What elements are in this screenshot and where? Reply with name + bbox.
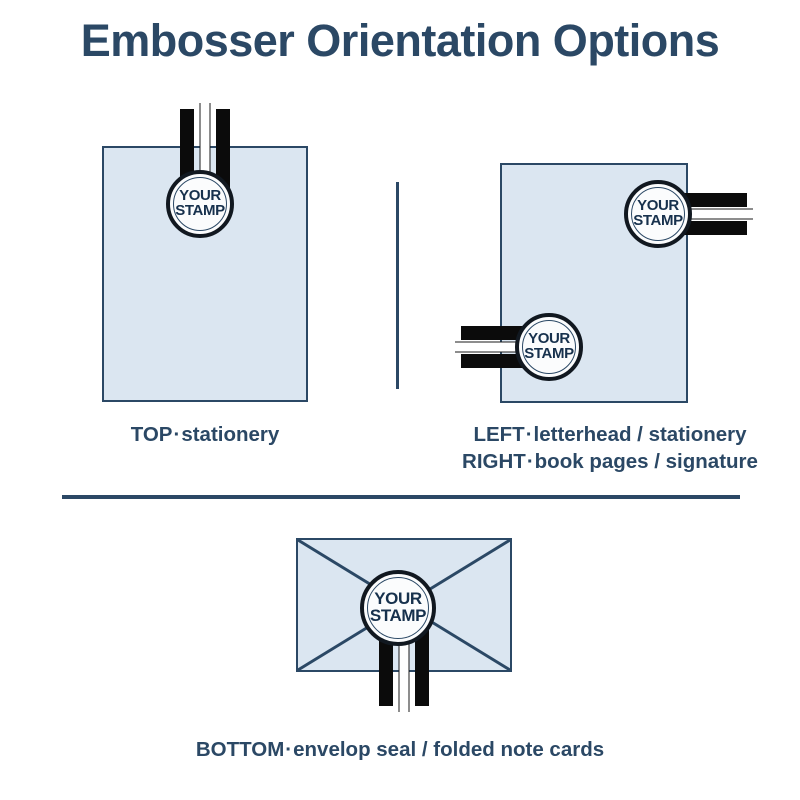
stamp-seal-bottom: YOUR STAMP (360, 570, 436, 646)
caption-bottom-line1: BOTTOM·envelop seal / folded note cards (100, 736, 700, 763)
caption-separator-dot: · (525, 423, 534, 446)
stamp-label-line2: STAMP (370, 608, 426, 625)
horizontal-divider (62, 495, 740, 499)
stamp-seal-top: YOUR STAMP (166, 170, 234, 238)
caption-left-line: LEFT·letterhead / stationery (424, 421, 796, 448)
stamp-label: YOUR STAMP (633, 199, 682, 228)
caption-separator-dot: · (284, 738, 293, 761)
stamp-seal-right: YOUR STAMP (624, 180, 692, 248)
caption-top-line1: TOP·stationery (55, 421, 355, 448)
caption-value: envelop seal / folded note cards (293, 738, 604, 761)
caption-key: TOP (131, 423, 173, 446)
infographic-canvas: Embosser Orientation Options YOUR STAMP … (0, 0, 800, 800)
caption-key: RIGHT (462, 450, 526, 473)
caption-separator-dot: · (526, 450, 535, 473)
stamp-label-line2: STAMP (524, 347, 573, 362)
stamp-label-line2: STAMP (175, 204, 224, 219)
caption-value: book pages / signature (535, 450, 758, 473)
vertical-divider (396, 182, 399, 389)
caption-separator-dot: · (172, 423, 181, 446)
stamp-label: YOUR STAMP (175, 189, 224, 218)
caption-key: BOTTOM (196, 738, 284, 761)
caption-key: LEFT (473, 423, 524, 446)
caption-left-right: LEFT·letterhead / stationery RIGHT·book … (424, 421, 796, 475)
page-title: Embosser Orientation Options (0, 18, 800, 63)
caption-value: letterhead / stationery (534, 423, 747, 446)
stamp-label: YOUR STAMP (524, 332, 573, 361)
caption-bottom: BOTTOM·envelop seal / folded note cards (100, 736, 700, 763)
caption-right-line: RIGHT·book pages / signature (424, 448, 796, 475)
stamp-label: YOUR STAMP (370, 591, 426, 624)
stamp-seal-left: YOUR STAMP (515, 313, 583, 381)
stamp-label-line2: STAMP (633, 214, 682, 229)
caption-value: stationery (181, 423, 279, 446)
caption-top: TOP·stationery (55, 421, 355, 448)
